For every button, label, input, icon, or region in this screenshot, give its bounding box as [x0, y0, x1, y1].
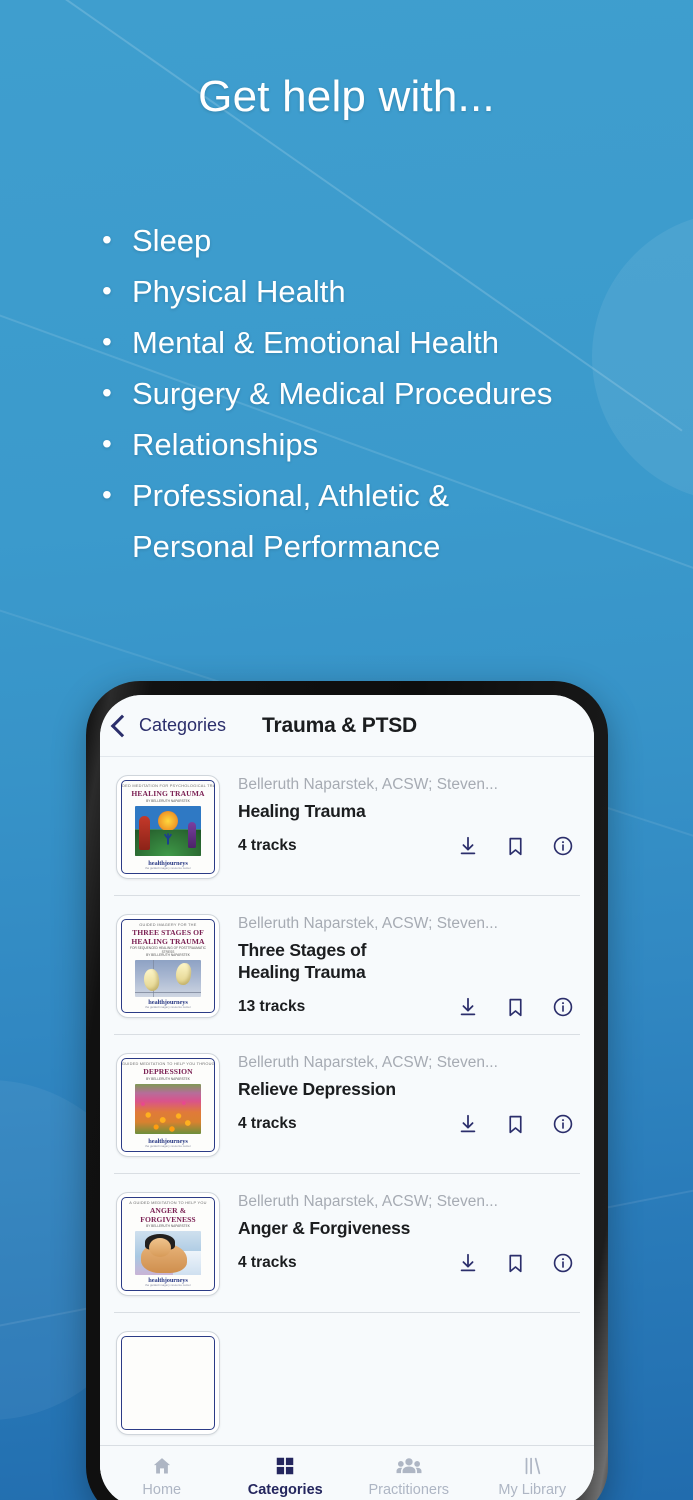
album-title: Anger & Forgiveness [238, 1217, 578, 1239]
list-item[interactable]: A GUIDED MEDITATION TO HELP YOU ANGER & … [114, 1174, 580, 1313]
album-art-illustration [135, 806, 201, 856]
album-info: Belleruth Naparstek, ACSW; Steven... Hea… [238, 775, 578, 857]
album-art-illustration [135, 960, 201, 997]
album-art-brand-tagline: the guided imagery resource center [145, 867, 191, 870]
back-button-label: Categories [139, 715, 226, 736]
app-header: Categories Trauma & PTSD [100, 695, 594, 757]
album-author: Belleruth Naparstek, ACSW; Steven... [238, 1054, 578, 1072]
info-icon[interactable] [552, 1252, 574, 1274]
home-icon [151, 1455, 173, 1477]
album-actions [457, 1113, 578, 1135]
album-art-subtitle: BY BELLERUTH NAPARSTEK [146, 800, 190, 804]
list-item: Surgery & Medical Procedures [98, 368, 653, 419]
album-art[interactable]: A GUIDED MEDITATION TO HELP YOU THROUGH … [116, 1053, 220, 1157]
bookmark-icon[interactable] [505, 997, 526, 1018]
album-art-kicker: GUIDED IMAGERY FOR THE [139, 924, 196, 928]
phone-screen: Categories Trauma & PTSD A GUIDED MEDITA… [100, 695, 594, 1500]
phone-mockup: Categories Trauma & PTSD A GUIDED MEDITA… [86, 681, 608, 1500]
album-art-title: THREE STAGES OF HEALING TRAUMA [131, 929, 204, 946]
list-item: Physical Health [98, 266, 653, 317]
album-art[interactable] [116, 1331, 220, 1435]
list-item: Relationships [98, 419, 653, 470]
bottom-navigation: Home Categories Practitioners My Library [100, 1445, 594, 1500]
bookmark-icon[interactable] [505, 836, 526, 857]
album-art-brand: healthjourneys [148, 999, 187, 1006]
info-icon[interactable] [552, 996, 574, 1018]
album-info: Belleruth Naparstek, ACSW; Steven... Rel… [238, 1053, 578, 1135]
people-icon [396, 1455, 422, 1477]
album-art-brand: healthjourneys [148, 1138, 187, 1145]
info-icon[interactable] [552, 835, 574, 857]
tab-label: Categories [248, 1482, 323, 1498]
list-item[interactable]: A GUIDED MEDITATION TO HELP YOU THROUGH … [114, 1035, 580, 1174]
album-title: Relieve Depression [238, 1078, 578, 1100]
list-item: Mental & Emotional Health [98, 317, 653, 368]
tab-practitioners[interactable]: Practitioners [347, 1446, 471, 1500]
album-meta-row: 4 tracks [238, 1113, 578, 1135]
album-actions [457, 835, 578, 857]
album-list[interactable]: A GUIDED MEDITATION FOR PSYCHOLOGICAL TR… [100, 757, 594, 1500]
album-art-brand: healthjourneys [148, 1277, 187, 1284]
album-title: Healing Trauma [238, 800, 578, 822]
album-art-title: ANGER & FORGIVENESS [125, 1207, 211, 1224]
tab-label: My Library [498, 1482, 566, 1498]
album-art-subtitle: BY BELLERUTH NAPARSTEK [146, 1078, 190, 1082]
album-art-subtitle: FOR SEQUENCED HEALING OF POSTTRAUMATIC S… [125, 947, 211, 958]
album-art-title: HEALING TRAUMA [131, 790, 204, 798]
album-art-subtitle: BY BELLERUTH NAPARSTEK [146, 1225, 190, 1229]
books-icon [521, 1455, 543, 1477]
download-icon[interactable] [457, 1252, 479, 1274]
track-count: 4 tracks [238, 1115, 297, 1133]
tab-label: Home [142, 1482, 181, 1498]
album-art-brand-tagline: the guided imagery resource center [145, 1006, 191, 1009]
album-meta-row: 13 tracks [238, 996, 578, 1018]
list-item: Sleep [98, 215, 653, 266]
album-title: Three Stages of Healing Trauma [238, 939, 578, 983]
tab-categories[interactable]: Categories [224, 1446, 348, 1500]
album-meta-row: 4 tracks [238, 1252, 578, 1274]
list-item: Professional, Athletic & Personal Perfor… [98, 470, 653, 572]
grid-icon [274, 1455, 296, 1477]
screen-title: Trauma & PTSD [262, 714, 578, 738]
list-item[interactable]: GUIDED IMAGERY FOR THE THREE STAGES OF H… [114, 896, 580, 1035]
promo-screen: Get help with... Sleep Physical Health M… [0, 0, 693, 1500]
album-art[interactable]: GUIDED IMAGERY FOR THE THREE STAGES OF H… [116, 914, 220, 1018]
track-count: 4 tracks [238, 837, 297, 855]
bookmark-icon[interactable] [505, 1114, 526, 1135]
download-icon[interactable] [457, 996, 479, 1018]
back-button[interactable]: Categories [114, 715, 226, 736]
album-actions [457, 996, 578, 1018]
album-info: Belleruth Naparstek, ACSW; Steven... Thr… [238, 914, 578, 1018]
album-actions [457, 1252, 578, 1274]
album-author: Belleruth Naparstek, ACSW; Steven... [238, 915, 578, 933]
album-art-kicker: A GUIDED MEDITATION TO HELP YOU THROUGH [121, 1063, 215, 1067]
tab-my-library[interactable]: My Library [471, 1446, 595, 1500]
list-item[interactable] [114, 1313, 580, 1451]
track-count: 4 tracks [238, 1254, 297, 1272]
album-art[interactable]: A GUIDED MEDITATION TO HELP YOU ANGER & … [116, 1192, 220, 1296]
benefits-list: Sleep Physical Health Mental & Emotional… [98, 215, 653, 572]
album-author: Belleruth Naparstek, ACSW; Steven... [238, 1193, 578, 1211]
album-art-illustration [135, 1084, 201, 1134]
page-title: Get help with... [0, 72, 693, 122]
album-art-illustration [135, 1231, 201, 1275]
chevron-left-icon [111, 715, 134, 738]
album-info: Belleruth Naparstek, ACSW; Steven... Ang… [238, 1192, 578, 1274]
album-art-brand-tagline: the guided imagery resource center [145, 1284, 191, 1287]
bookmark-icon[interactable] [505, 1253, 526, 1274]
album-art-kicker: A GUIDED MEDITATION FOR PSYCHOLOGICAL TR… [121, 785, 215, 789]
info-icon[interactable] [552, 1113, 574, 1135]
album-author: Belleruth Naparstek, ACSW; Steven... [238, 776, 578, 794]
tab-home[interactable]: Home [100, 1446, 224, 1500]
album-info [238, 1331, 578, 1332]
album-meta-row: 4 tracks [238, 835, 578, 857]
album-art-brand: healthjourneys [148, 860, 187, 867]
download-icon[interactable] [457, 835, 479, 857]
track-count: 13 tracks [238, 998, 305, 1016]
album-art-title: DEPRESSION [143, 1068, 193, 1076]
album-art[interactable]: A GUIDED MEDITATION FOR PSYCHOLOGICAL TR… [116, 775, 220, 879]
list-item[interactable]: A GUIDED MEDITATION FOR PSYCHOLOGICAL TR… [114, 757, 580, 896]
download-icon[interactable] [457, 1113, 479, 1135]
tab-label: Practitioners [368, 1482, 449, 1498]
album-art-brand-tagline: the guided imagery resource center [145, 1145, 191, 1148]
album-art-kicker: A GUIDED MEDITATION TO HELP YOU [129, 1202, 206, 1206]
